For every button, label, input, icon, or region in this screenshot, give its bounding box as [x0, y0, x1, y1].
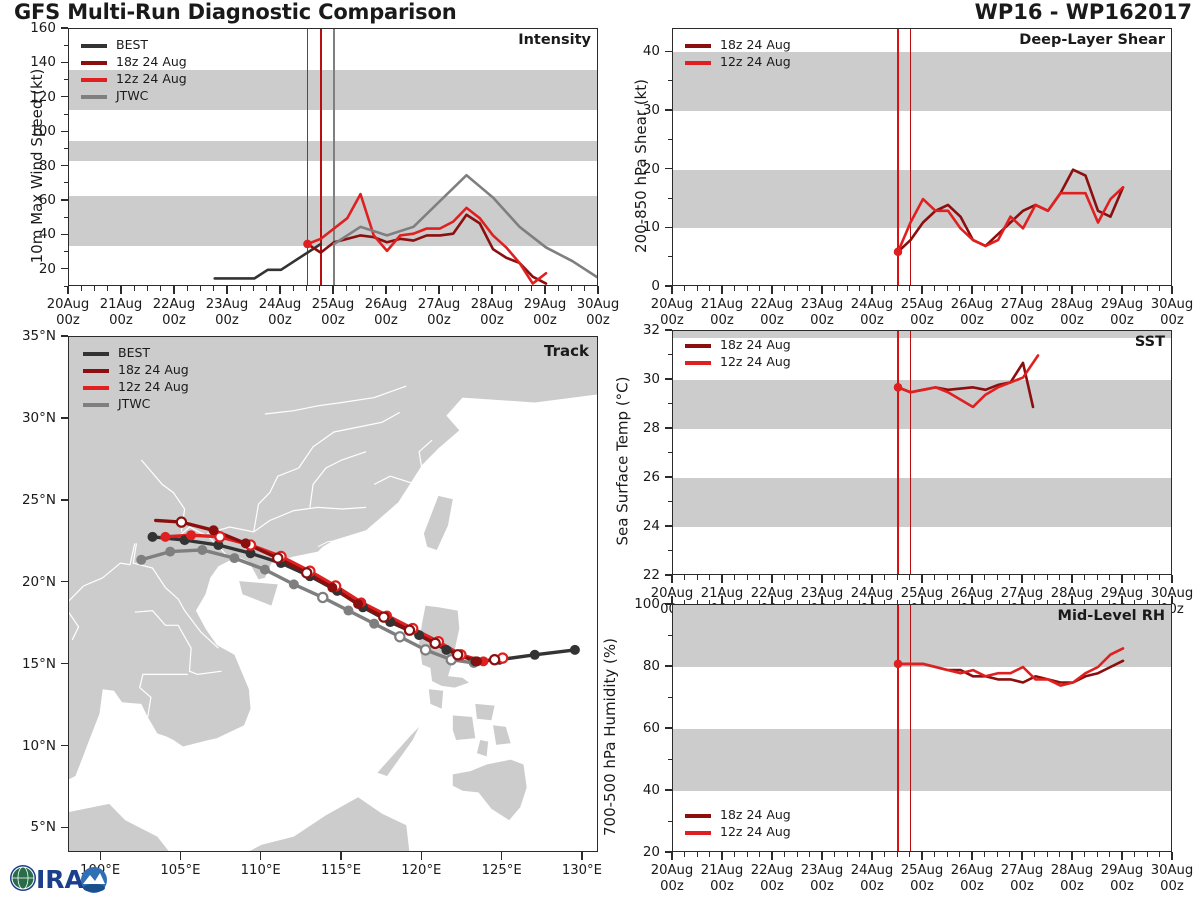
map-x-tickmark	[421, 852, 422, 860]
x-minor-tick	[809, 286, 810, 291]
series-best	[215, 244, 321, 278]
x-tickmark-top	[921, 596, 922, 604]
x-minor-tick	[1097, 575, 1098, 580]
x-tickmark	[871, 286, 872, 294]
x-minor-tick-top	[984, 600, 985, 605]
map-x-tickmark	[260, 852, 261, 860]
x-minor-tick-top	[684, 600, 685, 605]
legend-label-r12z: 12z 24 Aug	[720, 356, 791, 369]
y-tick-label: 22	[643, 567, 660, 583]
x-tickmark-top	[821, 596, 822, 604]
x-tickmark	[1121, 575, 1122, 583]
x-tickmark	[771, 852, 772, 860]
x-minor-tick	[834, 852, 835, 857]
x-tick-label: 21Aug00z	[701, 297, 744, 330]
map-y-tickmark	[61, 335, 68, 336]
x-tickmark-top	[1071, 596, 1072, 604]
y-tick-label: 20	[643, 844, 660, 860]
x-minor-tick-top	[934, 600, 935, 605]
y-tickmark	[665, 789, 672, 790]
y-tickmark	[61, 27, 68, 28]
track-point-open	[318, 593, 327, 602]
track-point-filled	[160, 532, 170, 542]
x-minor-tick-top	[1134, 600, 1135, 605]
legend-label-jtwc: JTWC	[116, 90, 148, 103]
x-minor-tick	[847, 286, 848, 291]
x-tick-label: 20Aug00z	[651, 863, 694, 896]
y-tickmark	[61, 165, 68, 166]
x-tickmark-top	[771, 596, 772, 604]
x-minor-tick	[797, 286, 798, 291]
x-minor-tick	[293, 286, 294, 291]
x-tick-label: 22Aug00z	[153, 297, 196, 330]
track-point-filled	[530, 650, 540, 660]
svg-text:IRA: IRA	[36, 865, 85, 894]
track-point-filled	[441, 645, 451, 655]
x-minor-tick	[859, 286, 860, 291]
x-minor-tick	[759, 286, 760, 291]
track-point-open	[453, 650, 462, 659]
x-minor-tick	[187, 286, 188, 291]
x-minor-tick	[784, 852, 785, 857]
x-minor-tick	[747, 852, 748, 857]
x-tickmark	[438, 286, 439, 294]
x-tickmark	[597, 286, 598, 294]
x-tick-label: 25Aug00z	[901, 297, 944, 330]
y-tick-label: 24	[643, 518, 660, 534]
x-minor-tick-top	[884, 600, 885, 605]
x-minor-tick-top	[1109, 600, 1110, 605]
x-minor-tick	[465, 286, 466, 291]
track-point-open	[302, 568, 311, 577]
track-markers-jtwc	[136, 545, 478, 668]
series-jtwc	[334, 175, 598, 278]
x-minor-tick	[81, 286, 82, 291]
x-minor-tick-top	[909, 600, 910, 605]
x-tickmark-top	[721, 596, 722, 604]
y-minor-tick	[64, 182, 68, 183]
map-y-tickmark	[61, 745, 68, 746]
map-x-tick-label: 110°E	[241, 863, 281, 879]
shear-legend: 18z 24 Aug12z 24 Aug	[685, 37, 791, 71]
x-minor-tick	[1109, 286, 1110, 291]
x-tickmark	[721, 852, 722, 860]
track-markers-12z-24-aug	[160, 530, 507, 666]
y-tick-label: 0	[651, 278, 660, 294]
x-tickmark	[771, 575, 772, 583]
track-panel-label: Track	[544, 342, 589, 360]
x-tickmark	[279, 286, 280, 294]
legend-label-r12z: 12z 24 Aug	[116, 73, 187, 86]
map-x-tickmark	[340, 852, 341, 860]
x-tickmark	[491, 286, 492, 294]
legend-row-r12z: 12z 24 Aug	[83, 379, 189, 396]
track-point-filled	[229, 553, 239, 563]
y-minor-tick	[668, 354, 672, 355]
x-tickmark	[385, 286, 386, 294]
x-minor-tick	[1034, 286, 1035, 291]
legend-row-best: BEST	[83, 345, 189, 362]
x-tickmark-top	[871, 596, 872, 604]
x-minor-tick	[1009, 286, 1010, 291]
track-point-open	[431, 639, 440, 648]
x-minor-tick	[734, 852, 735, 857]
x-minor-tick	[697, 575, 698, 580]
x-tickmark	[1071, 575, 1072, 583]
panel-sst: SST 18z 24 Aug12z 24 Aug 222426283032 20…	[672, 330, 1172, 575]
x-tickmark-top	[971, 596, 972, 604]
x-tickmark	[921, 286, 922, 294]
x-minor-tick	[709, 575, 710, 580]
x-minor-tick	[1034, 852, 1035, 857]
y-tickmark	[665, 665, 672, 666]
y-minor-tick	[668, 501, 672, 502]
sst-legend: 18z 24 Aug12z 24 Aug	[685, 337, 791, 371]
x-tick-label: 24Aug00z	[851, 863, 894, 896]
track-point-filled	[327, 583, 337, 593]
x-minor-tick	[1084, 852, 1085, 857]
x-tickmark	[871, 852, 872, 860]
rh-legend: 18z 24 Aug12z 24 Aug	[685, 807, 791, 841]
x-tick-label: 23Aug00z	[801, 863, 844, 896]
x-minor-tick-top	[947, 600, 948, 605]
x-tick-label: 30Aug00z	[1151, 863, 1194, 896]
track-point-filled	[353, 599, 363, 609]
rh-plot-area: Mid-Level RH 18z 24 Aug12z 24 Aug	[672, 604, 1172, 852]
x-tickmark	[821, 286, 822, 294]
x-minor-tick	[359, 286, 360, 291]
legend-label-r18z: 18z 24 Aug	[118, 364, 189, 377]
track-legend: BEST18z 24 Aug12z 24 AugJTWC	[83, 345, 189, 413]
y-tick-label: 30	[643, 371, 660, 387]
legend-row-r12z: 12z 24 Aug	[685, 54, 791, 71]
x-minor-tick	[697, 286, 698, 291]
x-minor-tick	[984, 286, 985, 291]
x-tickmark	[1171, 286, 1172, 294]
x-minor-tick	[160, 286, 161, 291]
x-minor-tick	[1159, 575, 1160, 580]
legend-label-best: BEST	[118, 347, 150, 360]
x-minor-tick	[571, 286, 572, 291]
rh-y-axis-label: 700-500 hPa Humidity (%)	[601, 613, 619, 861]
x-minor-tick	[947, 286, 948, 291]
x-minor-tick	[1134, 286, 1135, 291]
x-minor-tick	[959, 575, 960, 580]
y-tick-label: 26	[643, 469, 660, 485]
panel-track: Track BEST18z 24 Aug12z 24 AugJTWC 5°N10…	[68, 336, 598, 852]
sst-panel-label: SST	[1135, 334, 1165, 350]
y-tick-label: 60	[643, 720, 660, 736]
y-tickmark	[665, 378, 672, 379]
map-x-tick-label: 125°E	[482, 863, 522, 879]
x-minor-tick-top	[1159, 600, 1160, 605]
x-minor-tick	[346, 286, 347, 291]
x-minor-tick	[784, 575, 785, 580]
track-point-filled	[260, 565, 270, 575]
x-minor-tick	[1047, 575, 1048, 580]
x-minor-tick	[834, 286, 835, 291]
x-minor-tick	[797, 575, 798, 580]
y-minor-tick	[64, 45, 68, 46]
x-minor-tick	[947, 575, 948, 580]
y-minor-tick	[64, 114, 68, 115]
x-tick-label: 24Aug00z	[851, 297, 894, 330]
map-x-tick-label: 130°E	[562, 863, 602, 879]
legend-label-r18z: 18z 24 Aug	[116, 56, 187, 69]
sst-plot-area: SST 18z 24 Aug12z 24 Aug	[672, 330, 1172, 575]
y-minor-tick	[668, 635, 672, 636]
x-minor-tick	[709, 286, 710, 291]
x-minor-tick	[319, 286, 320, 291]
series-12z-24-aug	[894, 187, 1123, 256]
y-minor-tick	[64, 79, 68, 80]
x-tickmark	[721, 286, 722, 294]
x-minor-tick	[306, 286, 307, 291]
x-minor-tick	[809, 575, 810, 580]
legend-swatch-r12z	[81, 78, 107, 82]
map-y-tick-label: 15°N	[22, 656, 56, 672]
x-tickmark	[544, 286, 545, 294]
map-x-tick-label: 105°E	[160, 863, 200, 879]
y-tickmark	[61, 131, 68, 132]
y-tickmark	[665, 525, 672, 526]
x-tickmark	[721, 575, 722, 583]
legend-label-best: BEST	[116, 39, 148, 52]
y-minor-tick	[668, 139, 672, 140]
x-minor-tick	[1159, 286, 1160, 291]
legend-swatch-r12z	[685, 361, 711, 365]
y-minor-tick	[64, 217, 68, 218]
y-minor-tick	[668, 403, 672, 404]
x-minor-tick	[1084, 575, 1085, 580]
x-tickmark	[671, 286, 672, 294]
x-tick-label: 20Aug00z	[47, 297, 90, 330]
x-minor-tick	[684, 575, 685, 580]
x-tickmark-top	[1121, 596, 1122, 604]
x-tick-label: 26Aug00z	[365, 297, 408, 330]
legend-row-r18z: 18z 24 Aug	[685, 337, 791, 354]
x-minor-tick	[909, 852, 910, 857]
y-tickmark	[665, 427, 672, 428]
x-minor-tick	[1147, 852, 1148, 857]
x-minor-tick	[107, 286, 108, 291]
storm-id-title: WP16 - WP162017	[975, 0, 1192, 24]
y-tick-label: 80	[643, 658, 660, 674]
y-tickmark	[665, 109, 672, 110]
x-minor-tick-top	[697, 600, 698, 605]
track-point-filled	[148, 532, 158, 542]
series-12z-24-aug	[894, 356, 1038, 407]
x-tick-label: 25Aug00z	[901, 863, 944, 896]
x-tickmark-top	[671, 596, 672, 604]
x-minor-tick	[584, 286, 585, 291]
x-minor-tick	[1134, 852, 1135, 857]
track-point-open	[421, 645, 430, 654]
map-x-tickmark	[180, 852, 181, 860]
track-point-filled	[369, 619, 379, 629]
y-minor-tick	[668, 759, 672, 760]
x-minor-tick-top	[1059, 600, 1060, 605]
map-y-tick-label: 30°N	[22, 410, 56, 426]
x-tickmark	[921, 575, 922, 583]
x-minor-tick-top	[734, 600, 735, 605]
y-tickmark	[61, 62, 68, 63]
x-tick-label: 27Aug00z	[1001, 863, 1044, 896]
x-tickmark	[921, 852, 922, 860]
track-point-open	[405, 626, 414, 635]
x-minor-tick	[809, 852, 810, 857]
x-minor-tick	[684, 852, 685, 857]
x-minor-tick	[1034, 575, 1035, 580]
x-minor-tick	[784, 286, 785, 291]
x-tickmark	[1171, 575, 1172, 583]
y-tickmark	[61, 199, 68, 200]
x-tickmark	[821, 852, 822, 860]
y-tickmark	[665, 168, 672, 169]
x-minor-tick	[859, 575, 860, 580]
legend-swatch-r12z	[685, 831, 711, 835]
x-tickmark	[821, 575, 822, 583]
track-point-filled	[289, 579, 299, 589]
y-minor-tick	[64, 148, 68, 149]
x-tickmark	[1071, 852, 1072, 860]
x-minor-tick-top	[759, 600, 760, 605]
x-minor-tick	[834, 575, 835, 580]
x-tickmark	[67, 286, 68, 294]
x-minor-tick	[372, 286, 373, 291]
legend-label-jtwc: JTWC	[118, 398, 150, 411]
track-point-open	[395, 632, 404, 641]
y-tickmark	[665, 227, 672, 228]
shear-plot-area: Deep-Layer Shear 18z 24 Aug12z 24 Aug	[672, 28, 1172, 286]
track-point-open	[490, 655, 499, 664]
x-tick-label: 27Aug00z	[418, 297, 461, 330]
map-y-tickmark	[61, 663, 68, 664]
x-minor-tick	[1009, 852, 1010, 857]
legend-swatch-r18z	[685, 814, 711, 818]
x-minor-tick	[1109, 852, 1110, 857]
x-minor-tick	[425, 286, 426, 291]
map-y-tickmark	[61, 417, 68, 418]
x-minor-tick	[884, 852, 885, 857]
x-minor-tick	[399, 286, 400, 291]
x-minor-tick	[240, 286, 241, 291]
panel-intensity: Intensity BEST18z 24 Aug12z 24 AugJTWC 2…	[68, 28, 598, 286]
x-minor-tick	[997, 575, 998, 580]
x-minor-tick	[747, 575, 748, 580]
legend-label-r12z: 12z 24 Aug	[118, 381, 189, 394]
x-minor-tick	[997, 286, 998, 291]
x-tick-label: 28Aug00z	[471, 297, 514, 330]
x-tickmark	[332, 286, 333, 294]
cira-logo: IRA	[6, 858, 110, 898]
x-tick-label: 26Aug00z	[951, 863, 994, 896]
x-minor-tick	[1147, 575, 1148, 580]
x-minor-tick	[1059, 286, 1060, 291]
track-point-filled	[209, 525, 219, 535]
legend-label-r18z: 18z 24 Aug	[720, 39, 791, 52]
y-tickmark	[665, 476, 672, 477]
x-tick-label: 29Aug00z	[1101, 863, 1144, 896]
x-minor-tick-top	[1097, 600, 1098, 605]
y-minor-tick	[668, 452, 672, 453]
track-series-lines	[69, 337, 598, 852]
x-minor-tick-top	[809, 600, 810, 605]
sst-y-axis-label: Sea Surface Temp (°C)	[614, 339, 632, 584]
x-minor-tick	[1134, 575, 1135, 580]
x-minor-tick-top	[847, 600, 848, 605]
y-tickmark	[665, 51, 672, 52]
x-minor-tick-top	[747, 600, 748, 605]
intensity-plot-area: Intensity BEST18z 24 Aug12z 24 AugJTWC	[68, 28, 598, 286]
y-minor-tick	[668, 80, 672, 81]
y-tickmark	[665, 727, 672, 728]
x-tick-label: 25Aug00z	[312, 297, 355, 330]
legend-row-jtwc: JTWC	[83, 396, 189, 413]
legend-row-r12z: 12z 24 Aug	[685, 824, 791, 841]
x-minor-tick	[1147, 286, 1148, 291]
x-minor-tick-top	[1034, 600, 1035, 605]
map-y-tickmark	[61, 827, 68, 828]
track-point-open	[379, 613, 388, 622]
track-plot-area: Track BEST18z 24 Aug12z 24 AugJTWC	[68, 336, 598, 852]
x-minor-tick	[1009, 575, 1010, 580]
x-minor-tick	[94, 286, 95, 291]
x-minor-tick-top	[1009, 600, 1010, 605]
x-minor-tick	[684, 286, 685, 291]
x-minor-tick	[847, 852, 848, 857]
x-minor-tick	[947, 852, 948, 857]
map-x-tickmark	[501, 852, 502, 860]
x-tick-label: 28Aug00z	[1051, 863, 1094, 896]
y-minor-tick	[668, 550, 672, 551]
x-minor-tick-top	[709, 600, 710, 605]
x-tick-label: 23Aug00z	[801, 297, 844, 330]
x-minor-tick	[909, 575, 910, 580]
x-minor-tick	[1084, 286, 1085, 291]
x-tick-label: 29Aug00z	[524, 297, 567, 330]
x-tickmark	[1121, 286, 1122, 294]
x-minor-tick	[531, 286, 532, 291]
x-tick-label: 21Aug00z	[100, 297, 143, 330]
x-minor-tick	[518, 286, 519, 291]
y-tickmark	[61, 268, 68, 269]
track-point-filled	[570, 645, 580, 655]
x-minor-tick	[1047, 286, 1048, 291]
x-minor-tick-top	[997, 600, 998, 605]
x-minor-tick	[797, 852, 798, 857]
legend-label-r12z: 12z 24 Aug	[720, 56, 791, 69]
track-point-filled	[472, 656, 482, 666]
figure-canvas: GFS Multi-Run Diagnostic Comparison WP16…	[0, 0, 1200, 900]
track-point-filled	[136, 555, 146, 565]
x-tick-label: 26Aug00z	[951, 297, 994, 330]
x-minor-tick-top	[897, 600, 898, 605]
x-tickmark	[671, 852, 672, 860]
legend-row-r12z: 12z 24 Aug	[685, 354, 791, 371]
x-minor-tick	[997, 852, 998, 857]
x-minor-tick	[897, 852, 898, 857]
legend-swatch-r18z	[83, 369, 109, 373]
legend-row-r18z: 18z 24 Aug	[81, 54, 187, 71]
y-tick-label: 160	[30, 20, 56, 36]
x-minor-tick	[147, 286, 148, 291]
x-minor-tick-top	[1047, 600, 1048, 605]
x-tickmark	[671, 575, 672, 583]
x-tick-label: 29Aug00z	[1101, 297, 1144, 330]
legend-label-r18z: 18z 24 Aug	[720, 809, 791, 822]
y-tickmark	[61, 96, 68, 97]
